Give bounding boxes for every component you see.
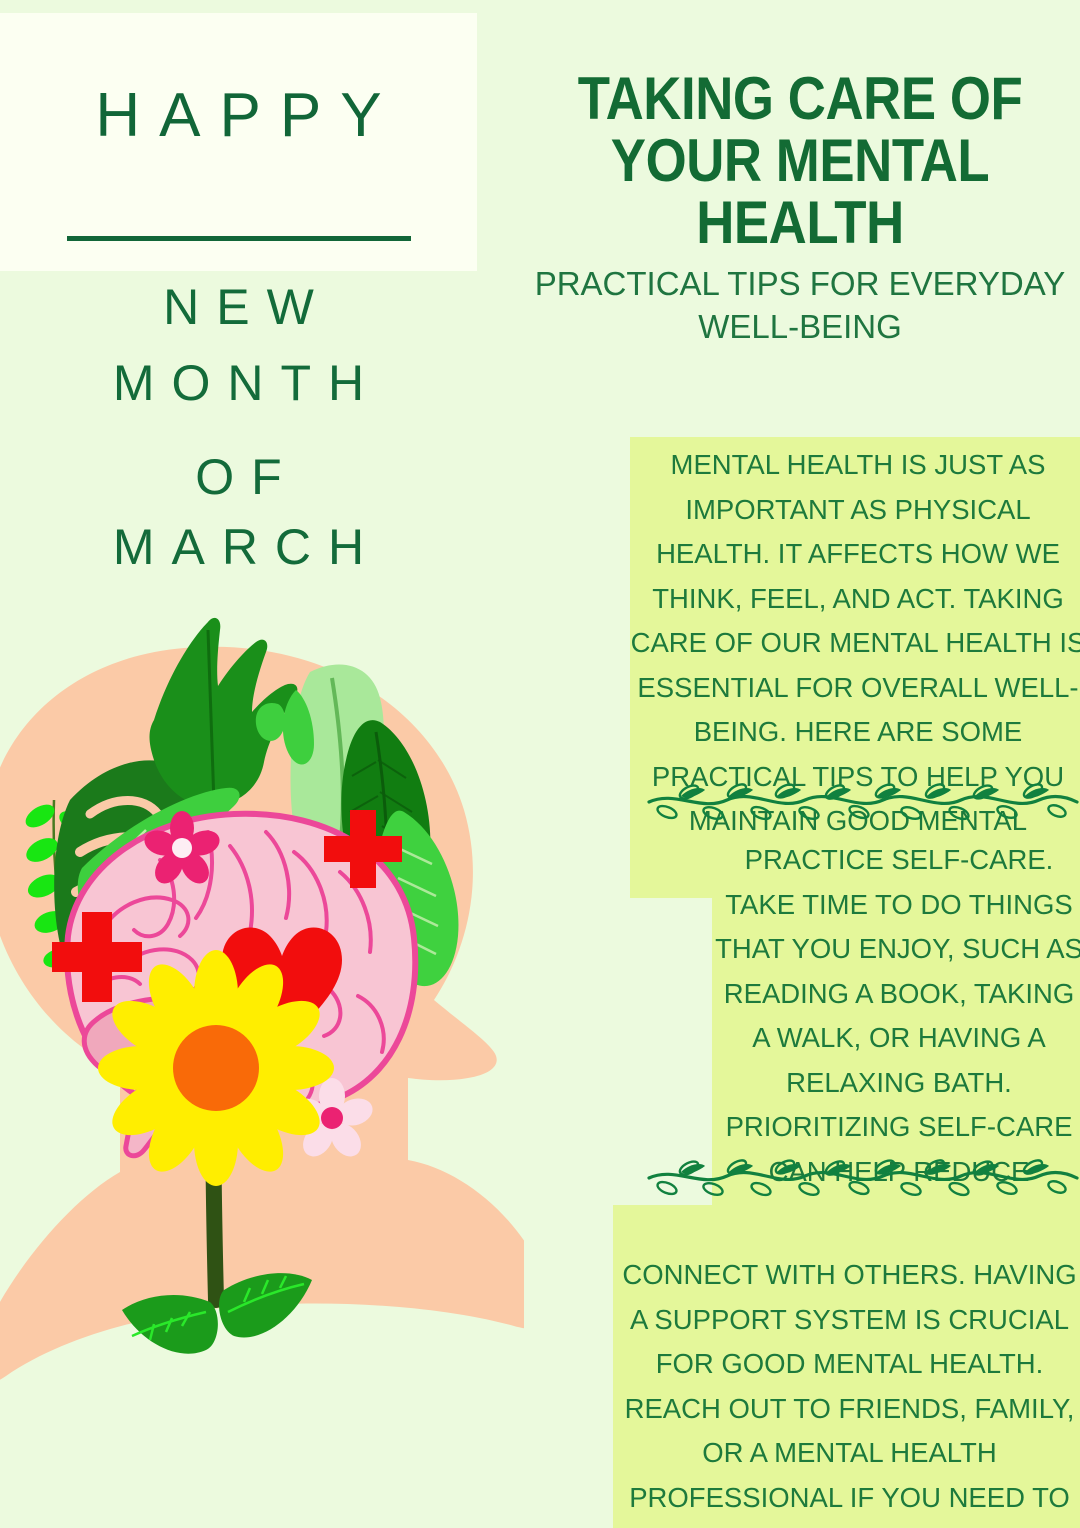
stack-line-new: NEW	[0, 282, 477, 332]
text-block-connect: CONNECT WITH OTHERS. HAVING A SUPPORT SY…	[613, 1205, 1080, 1528]
leafy-vine-divider-1	[645, 782, 1080, 822]
happy-headline: HAPPY	[0, 85, 477, 147]
horizontal-rule	[67, 236, 411, 241]
leafy-vine-divider-2	[645, 1158, 1080, 1198]
stack-line-march: MARCH	[0, 522, 477, 572]
stem-leaf-left	[122, 1295, 218, 1354]
stack-line-month: MONTH	[0, 358, 477, 408]
page-title: TAKING CARE OF YOUR MENTAL HEALTH	[554, 68, 1047, 253]
head-with-floral-brain-illustration	[0, 600, 524, 1528]
poster-canvas: HAPPY NEW MONTH OF MARCH	[0, 0, 1080, 1528]
stack-line-of: OF	[0, 452, 477, 502]
page-subtitle: PRACTICAL TIPS FOR EVERYDAY WELL-BEING	[520, 263, 1080, 349]
daisy-center	[173, 1025, 259, 1111]
text-block-intro: MENTAL HEALTH IS JUST AS IMPORTANT AS PH…	[630, 437, 1080, 898]
